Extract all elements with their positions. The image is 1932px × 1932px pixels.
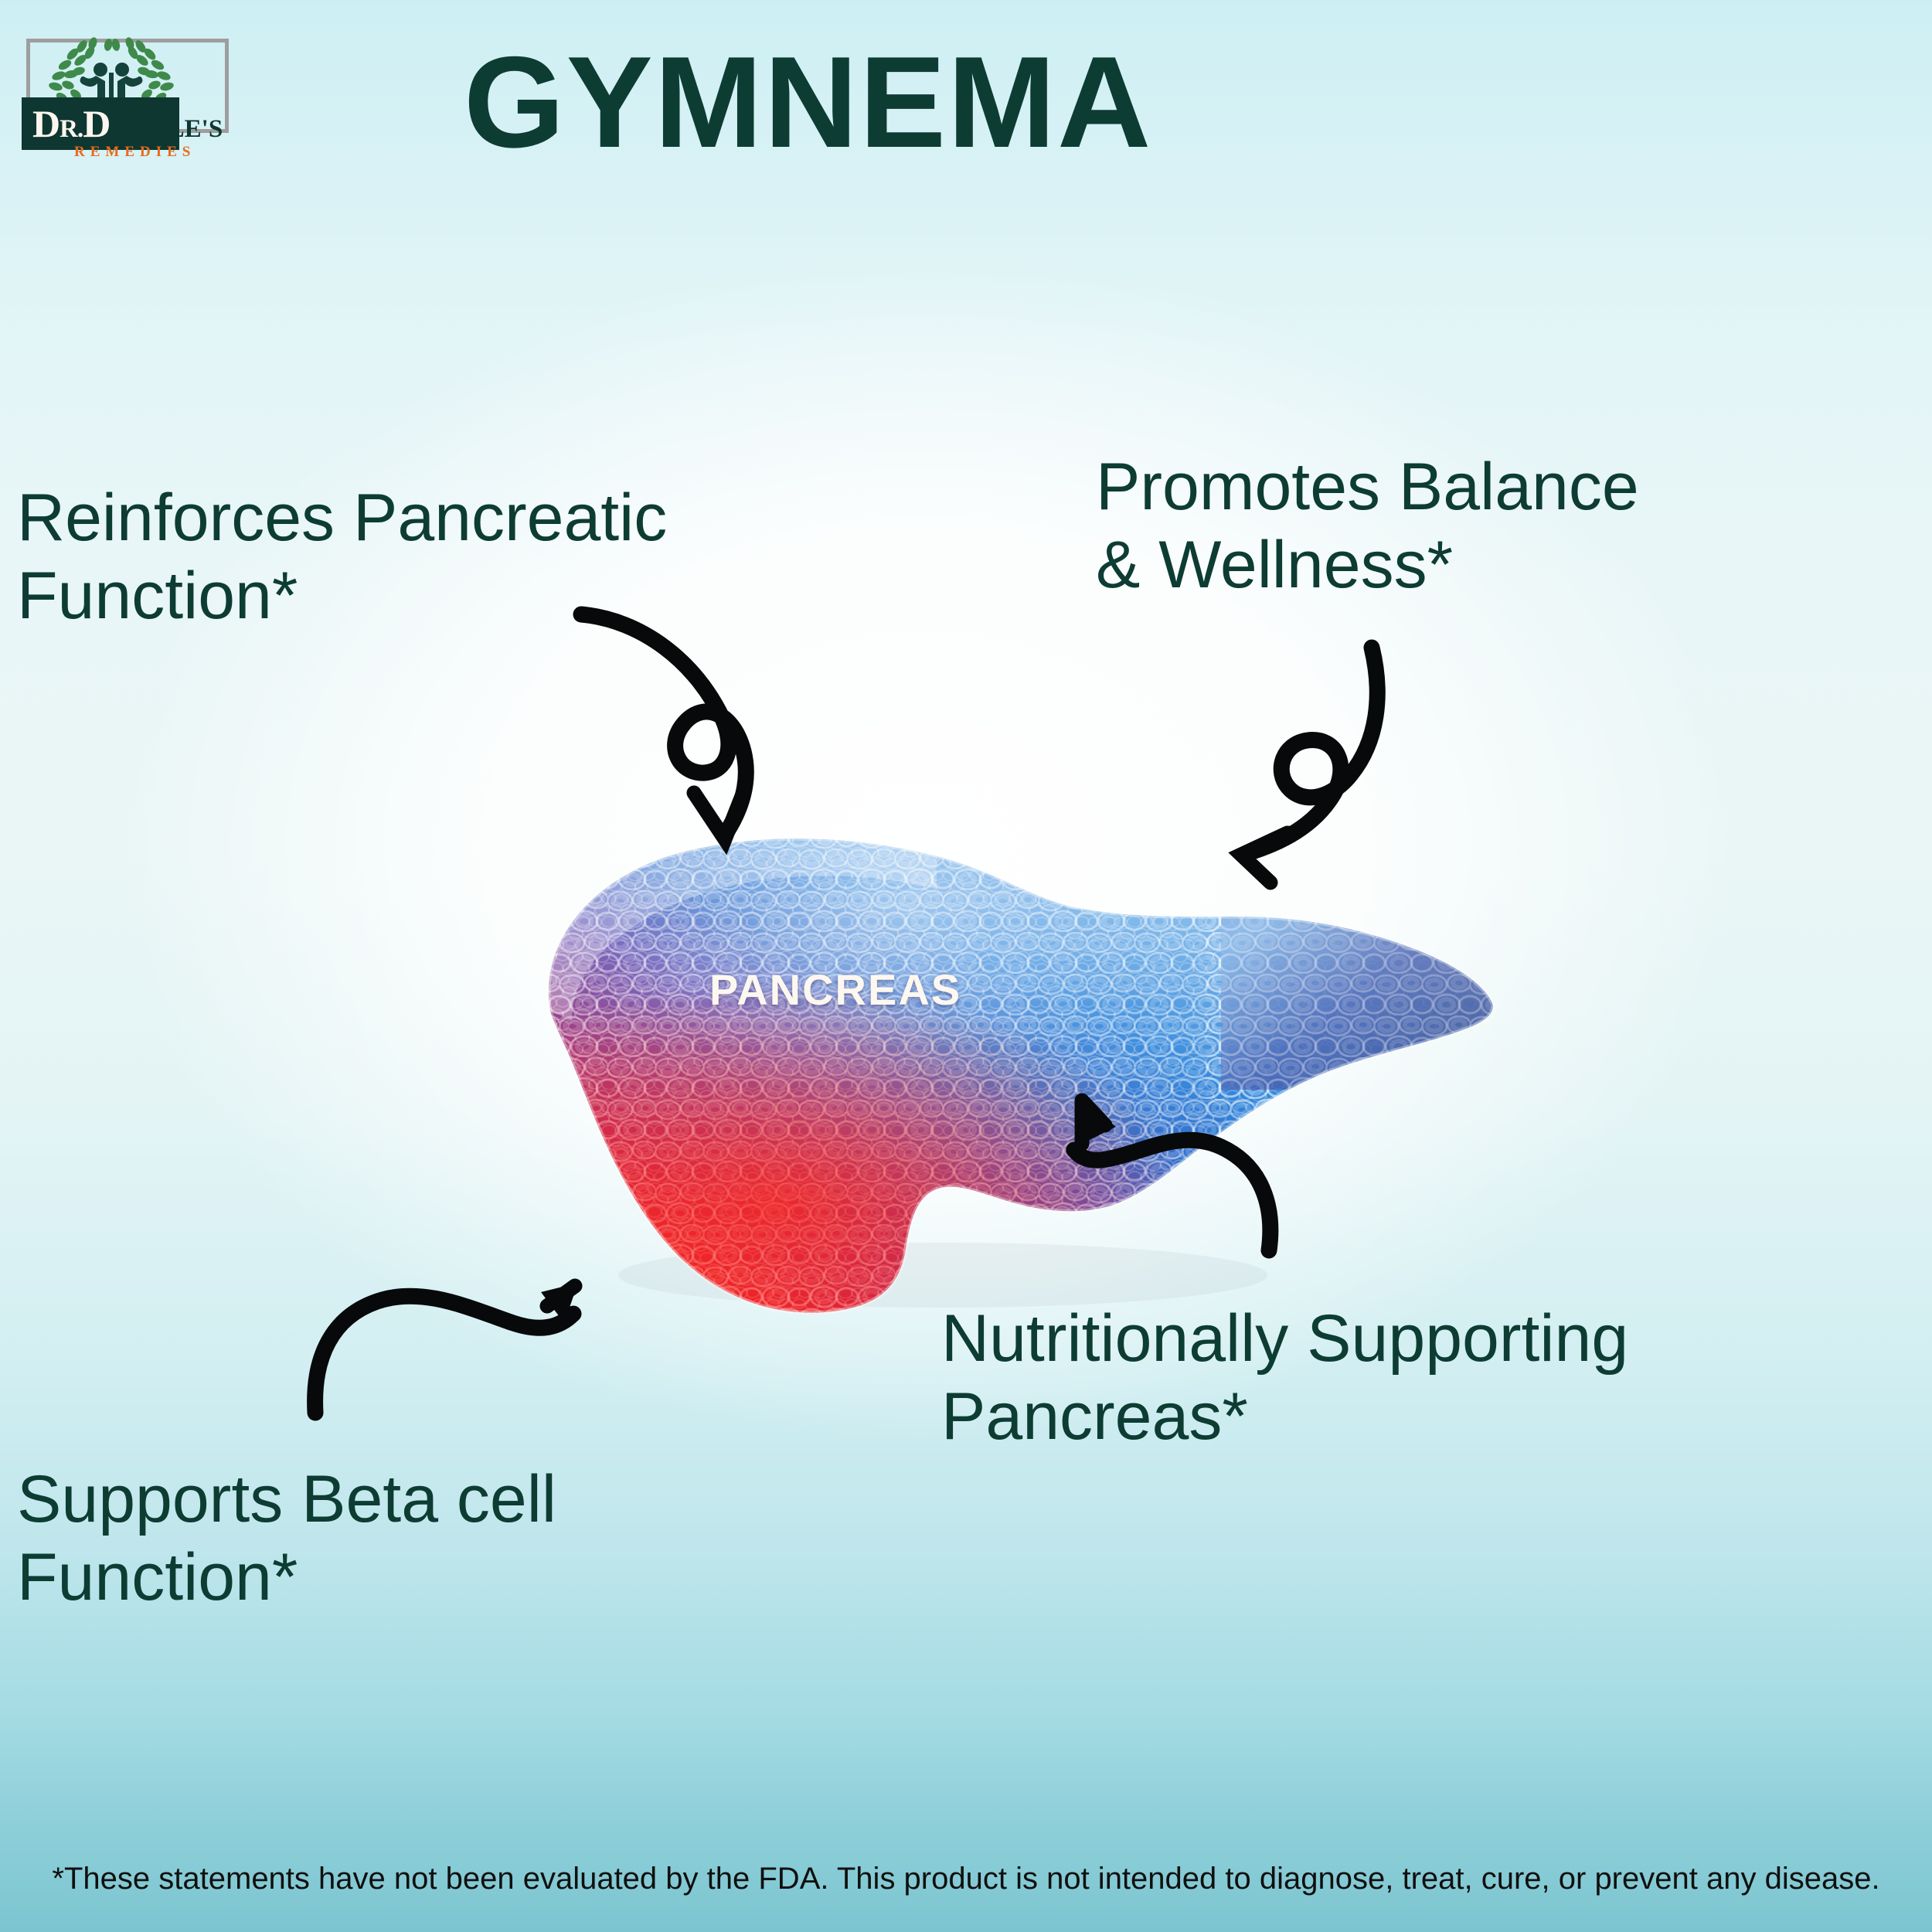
pancreas-illustration: PANCREAS [464, 765, 1499, 1314]
pancreas-organ-graphic [464, 765, 1499, 1314]
logo-hobles-text: HOBLE'S [111, 115, 223, 143]
logo-d-text: D [83, 102, 111, 145]
pancreas-label: PANCREAS [709, 964, 961, 1015]
callout-promotes-balance-wellness: Promotes Balance & Wellness* [1096, 448, 1930, 605]
callout-nutritionally-supporting-pancreas: Nutritionally Supporting Pancreas* [941, 1300, 1932, 1457]
callout-reinforces-pancreatic-function: Reinforces Pancreatic Function* [17, 479, 937, 636]
footer-disclaimer: *These statements have not been evaluate… [0, 1842, 1932, 1932]
logo-dr-text: DR. [32, 102, 83, 145]
poster-canvas: DR.DHOBLE'S REMEDIES GYMNEMA [0, 0, 1932, 1932]
callout-supports-beta-cell-function: Supports Beta cell Function* [17, 1461, 867, 1617]
logo-wordmark: DR.DHOBLE'S [32, 102, 233, 148]
logo-tagline: REMEDIES [74, 144, 196, 161]
page-title: GYMNEMA [464, 37, 1391, 167]
brand-logo[interactable]: DR.DHOBLE'S REMEDIES [26, 22, 235, 161]
